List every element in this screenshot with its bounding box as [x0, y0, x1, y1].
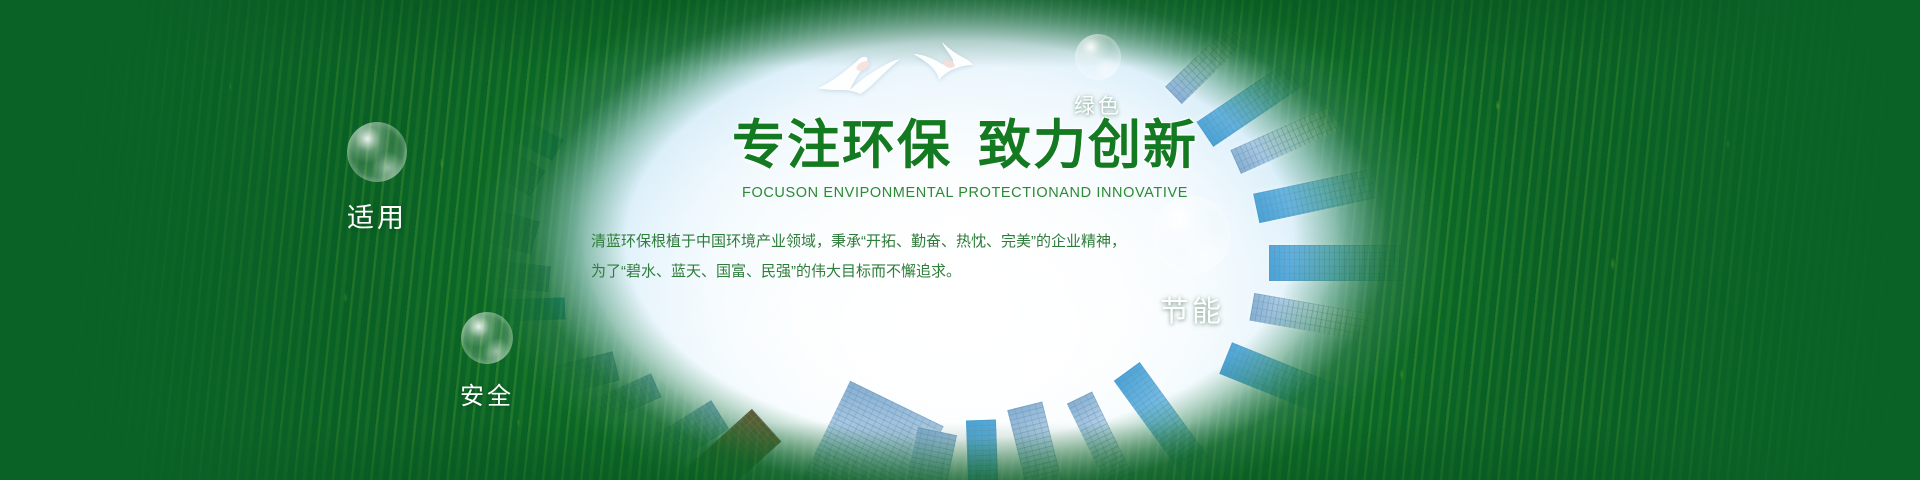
bubble-icon	[461, 312, 513, 364]
environmental-hero-banner: 适用 绿色 安全 节能 专注环保致力创新 FOCUSON ENVIPONMENT…	[0, 0, 1920, 480]
feature-label: 节能	[1128, 288, 1256, 330]
subheadline: FOCUSON ENVIPONMENTAL PROTECTIONAND INNO…	[585, 185, 1345, 201]
feature-lvse: 绿色	[1050, 34, 1146, 120]
headline-left: 专注环保	[732, 116, 952, 175]
headline-right: 致力创新	[978, 116, 1198, 175]
bubble-icon	[1075, 34, 1121, 80]
feature-anquan: 安全	[432, 312, 542, 411]
feature-label: 适用	[322, 196, 432, 235]
seagull-right-icon	[912, 40, 974, 82]
copy-block: 专注环保致力创新 FOCUSON ENVIPONMENTAL PROTECTIO…	[585, 118, 1345, 288]
feature-shiyong: 适用	[322, 122, 432, 235]
body-copy: 清蓝环保根植于中国环境产业领域，秉承“开拓、勤奋、热忱、完美”的企业精神， 为了…	[585, 227, 1345, 289]
seagull-left-icon	[816, 42, 902, 94]
bubble-icon	[347, 122, 407, 182]
feature-label: 安全	[432, 376, 542, 411]
body-line-2: 为了“碧水、蓝天、国富、民强”的伟大目标而不懈追求。	[591, 257, 1345, 288]
body-line-1: 清蓝环保根植于中国环境产业领域，秉承“开拓、勤奋、热忱、完美”的企业精神，	[591, 227, 1345, 258]
page-title: 专注环保致力创新	[585, 118, 1345, 174]
